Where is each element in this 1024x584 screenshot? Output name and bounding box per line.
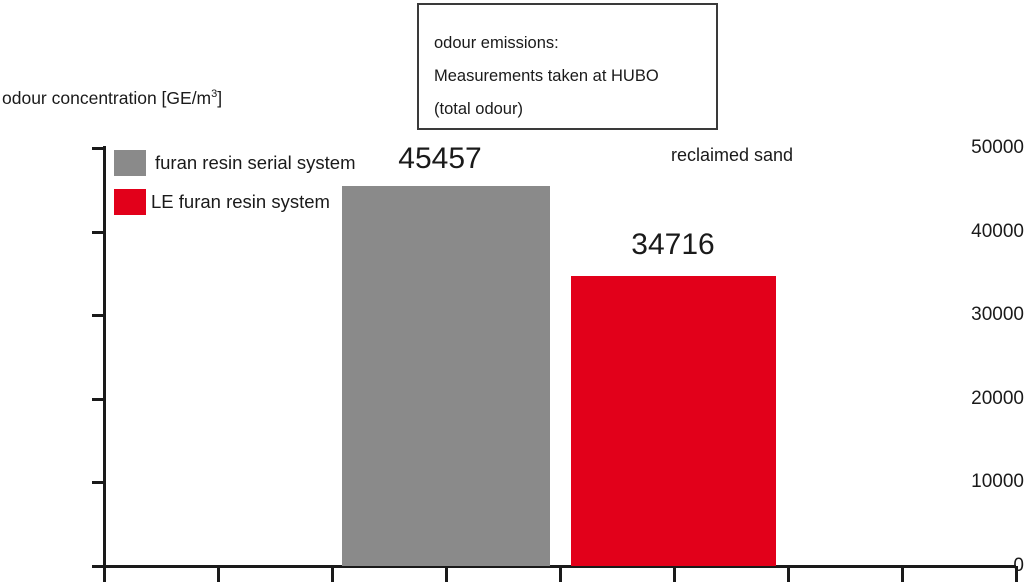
y-tick-mark	[92, 231, 104, 234]
value-label-red: 34716	[631, 228, 714, 262]
x-tick-mark	[1015, 566, 1018, 582]
legend-swatch-icon	[114, 189, 146, 215]
x-tick-mark	[787, 566, 790, 582]
y-tick-label: 0	[938, 555, 1024, 577]
y-tick-mark	[92, 481, 104, 484]
x-tick-mark	[103, 566, 106, 582]
y-tick-label: 10000	[938, 471, 1024, 493]
y-tick-label: 30000	[938, 304, 1024, 326]
y-tick-label: 20000	[938, 388, 1024, 410]
y-tick-label: 40000	[938, 221, 1024, 243]
x-tick-mark	[901, 566, 904, 582]
bar-2	[571, 276, 776, 566]
y-tick-label: 50000	[938, 137, 1024, 159]
legend-item-1: furan resin serial system	[114, 147, 355, 179]
legend-swatch-icon	[114, 150, 146, 176]
y-tick-mark	[92, 314, 104, 317]
chart-legend: furan resin serial systemLE furan resin …	[114, 147, 355, 225]
legend-label: LE furan resin system	[151, 191, 330, 213]
value-label-gray: 45457	[398, 142, 481, 176]
y-tick-mark	[92, 398, 104, 401]
bar-1	[342, 186, 550, 566]
legend-label: furan resin serial system	[155, 152, 355, 174]
chart-plot-area: 01000020000300004000050000 4545734716rec…	[0, 0, 1024, 584]
y-tick-mark	[92, 147, 104, 150]
x-tick-mark	[445, 566, 448, 582]
x-tick-mark	[331, 566, 334, 582]
x-tick-mark	[559, 566, 562, 582]
x-tick-mark	[217, 566, 220, 582]
category-label-reclaimed-sand: reclaimed sand	[671, 145, 793, 166]
legend-item-2: LE furan resin system	[114, 186, 355, 218]
y-axis-line	[103, 146, 106, 568]
x-tick-mark	[673, 566, 676, 582]
